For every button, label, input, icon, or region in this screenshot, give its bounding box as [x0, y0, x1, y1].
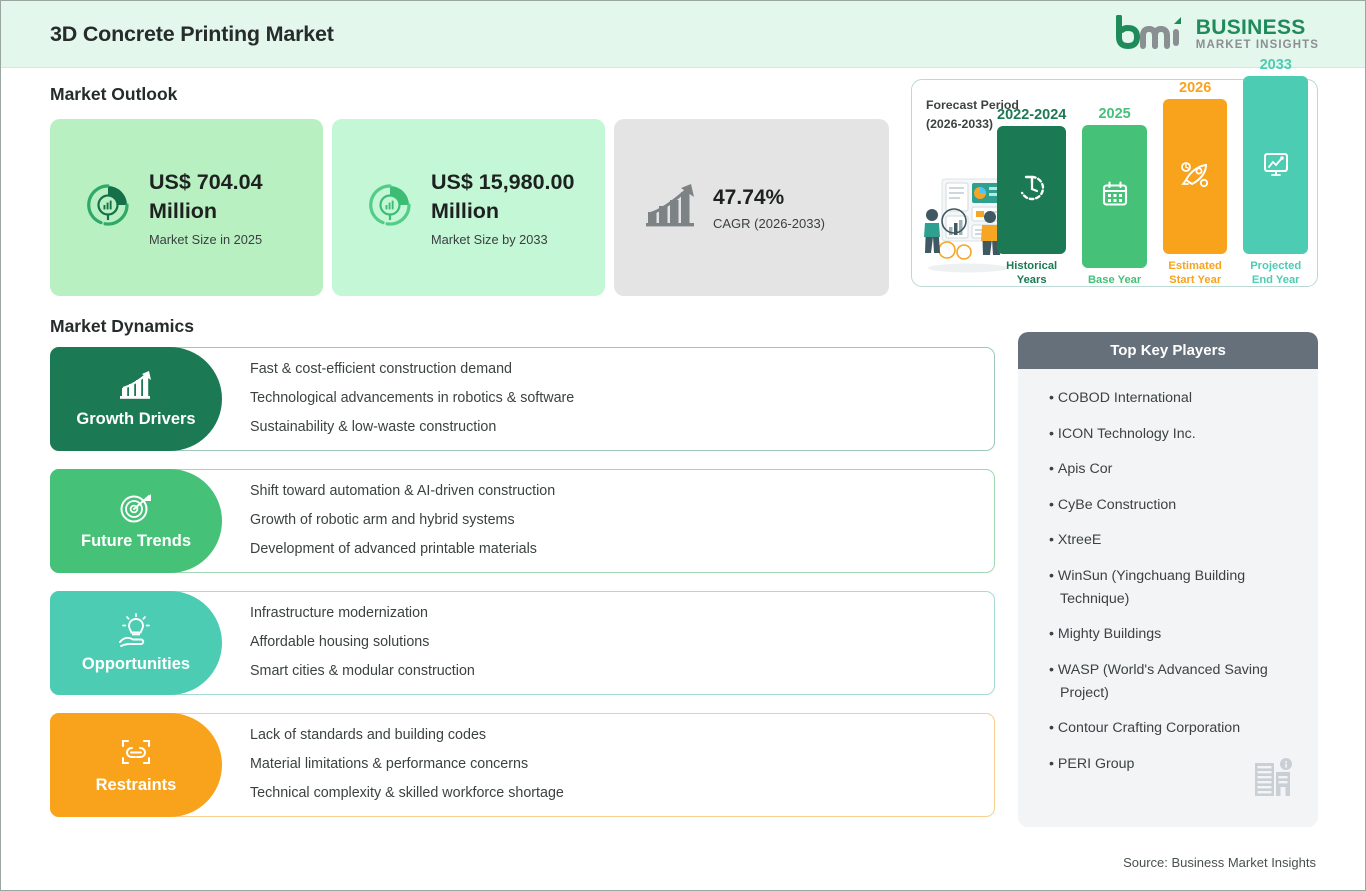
- infographic-page: 3D Concrete Printing Market BUSINESS MAR…: [0, 0, 1366, 891]
- buildings-info-icon: [1252, 756, 1296, 805]
- market-dynamics-list: Growth Drivers Fast & cost-efficient con…: [50, 347, 995, 835]
- bar-year-label: 2033: [1260, 57, 1292, 73]
- stat-value: 47.74%: [713, 184, 825, 212]
- logo-wordmark: BUSINESS MARKET INSIGHTS: [1196, 17, 1319, 52]
- dynamics-pill-opportunities[interactable]: Opportunities: [50, 591, 222, 695]
- list-item: • COBOD International: [1049, 387, 1300, 410]
- stat-card-text: 47.74% CAGR (2026-2033): [713, 184, 825, 231]
- dynamics-pill-future-trends[interactable]: Future Trends: [50, 469, 222, 573]
- lightbulb-hand-icon: [117, 613, 155, 652]
- bar-caption-estimated-start-year: Estimated Start Year: [1163, 259, 1228, 287]
- logo-secondary-text: MARKET INSIGHTS: [1196, 40, 1319, 52]
- list-item: • WinSun (Yingchuang Building Technique): [1049, 565, 1300, 611]
- donut-chart-icon: [365, 180, 415, 235]
- stat-caption: CAGR (2026-2033): [713, 216, 825, 231]
- stat-card-text: US$ 704.04 Million Market Size in 2025: [149, 168, 299, 247]
- market-dynamics-title: Market Dynamics: [50, 316, 194, 337]
- bar-col-projected-end: 2033 Projected End Year: [1243, 57, 1308, 287]
- calendar-icon: [1100, 179, 1130, 214]
- bullet-item: Smart cities & modular construction: [250, 664, 981, 680]
- bullet-item: Lack of standards and building codes: [250, 728, 981, 744]
- top-key-players-title: Top Key Players: [1018, 332, 1318, 369]
- dynamics-pill-restraints[interactable]: Restraints: [50, 713, 222, 817]
- dynamics-row-future-trends: Future Trends Shift toward automation & …: [50, 469, 995, 573]
- top-key-players-panel: Top Key Players • COBOD International • …: [1018, 332, 1318, 827]
- list-item: • XtreeE: [1049, 529, 1300, 552]
- bar-estimated-start-year: [1163, 99, 1228, 254]
- target-dart-icon: [118, 492, 154, 529]
- source-note: Source: Business Market Insights: [1123, 855, 1316, 870]
- bar-col-base-year: 2025 Base Year: [1082, 106, 1147, 287]
- stat-card-market-size-2033: US$ 15,980.00 Million Market Size by 203…: [332, 119, 605, 296]
- stat-value: US$ 704.04 Million: [149, 168, 299, 225]
- dynamics-label: Growth Drivers: [76, 410, 195, 429]
- bar-caption-base-year: Base Year: [1088, 273, 1141, 287]
- market-outlook-cards: US$ 704.04 Million Market Size in 2025: [50, 119, 889, 296]
- stat-card-text: US$ 15,980.00 Million Market Size by 203…: [431, 168, 581, 247]
- bullet-item: Sustainability & low-waste construction: [250, 420, 981, 436]
- bar-projected-end-year: [1243, 76, 1308, 254]
- brand-logo: BUSINESS MARKET INSIGHTS: [1115, 15, 1319, 54]
- growth-bar-chart-icon: [644, 181, 700, 234]
- page-header: 3D Concrete Printing Market BUSINESS MAR…: [1, 1, 1365, 68]
- dynamics-pill-growth-drivers[interactable]: Growth Drivers: [50, 347, 222, 451]
- stat-caption: Market Size by 2033: [431, 232, 581, 247]
- logo-primary-text: BUSINESS: [1196, 17, 1319, 38]
- dynamics-row-opportunities: Opportunities Infrastructure modernizati…: [50, 591, 995, 695]
- donut-chart-icon: [83, 180, 133, 235]
- list-item: • CyBe Construction: [1049, 494, 1300, 517]
- growth-arrow-bars-icon: [117, 370, 155, 407]
- bmi-logo-icon: [1115, 15, 1187, 54]
- bar-col-estimated-start: 2026 Estimated Start Year: [1163, 80, 1228, 287]
- bullet-item: Material limitations & performance conce…: [250, 757, 981, 773]
- bullet-item: Technical complexity & skilled workforce…: [250, 786, 981, 802]
- list-item: • Mighty Buildings: [1049, 623, 1300, 646]
- dynamics-bullets: Fast & cost-efficient construction deman…: [250, 347, 981, 451]
- dynamics-label: Restraints: [96, 776, 177, 795]
- dynamics-label: Future Trends: [81, 532, 191, 551]
- bar-year-label: 2022-2024: [997, 107, 1066, 123]
- top-key-players-list: • COBOD International • ICON Technology …: [1018, 369, 1318, 776]
- bullet-item: Fast & cost-efficient construction deman…: [250, 362, 981, 378]
- bullet-item: Development of advanced printable materi…: [250, 542, 981, 558]
- dynamics-bullets: Lack of standards and building codes Mat…: [250, 713, 981, 817]
- list-item: • Contour Crafting Corporation: [1049, 717, 1300, 740]
- stat-caption: Market Size in 2025: [149, 232, 299, 247]
- forecast-bar-chart: 2022-2024 Historical Years 2025: [991, 79, 1318, 287]
- dynamics-label: Opportunities: [82, 655, 190, 674]
- bar-base-year: [1082, 125, 1147, 268]
- bullet-item: Growth of robotic arm and hybrid systems: [250, 513, 981, 529]
- list-item: • ICON Technology Inc.: [1049, 423, 1300, 446]
- chain-link-frame-icon: [118, 736, 154, 773]
- market-outlook-title: Market Outlook: [50, 84, 177, 105]
- stat-value: US$ 15,980.00 Million: [431, 168, 581, 225]
- bar-caption-projected-end-year: Projected End Year: [1243, 259, 1308, 287]
- page-title: 3D Concrete Printing Market: [50, 22, 334, 47]
- bullet-item: Infrastructure modernization: [250, 606, 981, 622]
- dynamics-bullets: Infrastructure modernization Affordable …: [250, 591, 981, 695]
- bullet-item: Shift toward automation & AI-driven cons…: [250, 484, 981, 500]
- dynamics-row-growth-drivers: Growth Drivers Fast & cost-efficient con…: [50, 347, 995, 451]
- bar-col-historical: 2022-2024 Historical Years: [997, 107, 1066, 287]
- bullet-item: Affordable housing solutions: [250, 635, 981, 651]
- bar-year-label: 2026: [1179, 80, 1211, 96]
- list-item: • WASP (World's Advanced Saving Project): [1049, 659, 1300, 705]
- bar-year-label: 2025: [1098, 106, 1130, 122]
- list-item: • Apis Cor: [1049, 458, 1300, 481]
- stat-card-market-size-2025: US$ 704.04 Million Market Size in 2025: [50, 119, 323, 296]
- bar-historical: [997, 126, 1066, 254]
- dynamics-bullets: Shift toward automation & AI-driven cons…: [250, 469, 981, 573]
- bar-caption-historical: Historical Years: [997, 259, 1066, 287]
- dynamics-row-restraints: Restraints Lack of standards and buildin…: [50, 713, 995, 817]
- bullet-item: Technological advancements in robotics &…: [250, 391, 981, 407]
- stat-card-cagr: 47.74% CAGR (2026-2033): [614, 119, 889, 296]
- rocket-launch-icon: [1179, 159, 1211, 194]
- presentation-chart-icon: [1261, 148, 1291, 183]
- history-clock-icon: [1017, 173, 1047, 208]
